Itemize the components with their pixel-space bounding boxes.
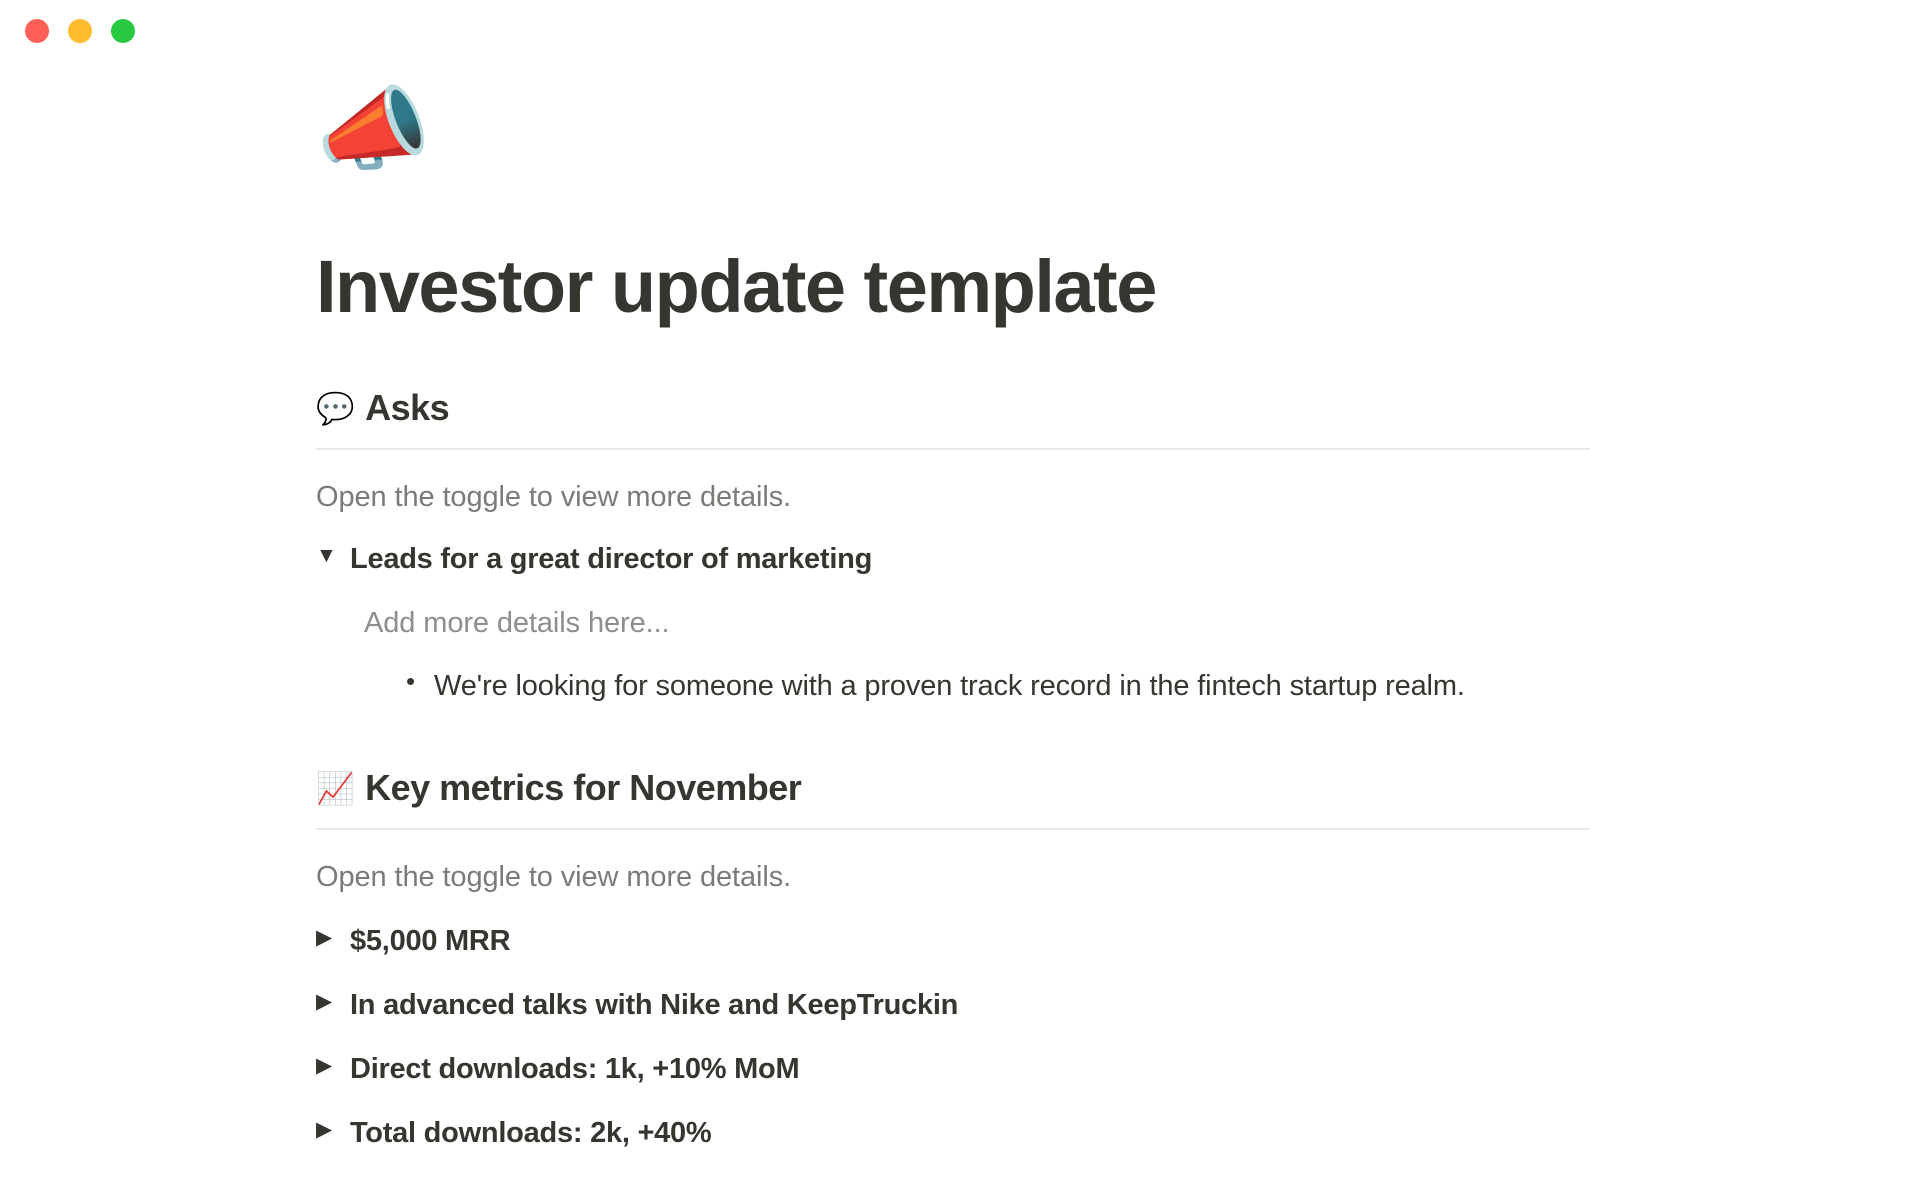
section-heading-text: Key metrics for November [365, 765, 801, 810]
toggle-child-hint[interactable]: Add more details here... [364, 602, 1590, 644]
metrics-toggle-list: ▶ $5,000 MRR ▶ In advanced talks with Ni… [316, 920, 1590, 1154]
section-hint-text[interactable]: Open the toggle to view more details. [316, 856, 1590, 898]
app-window: 📣 Investor update template 💬 Asks Open t… [0, 0, 1920, 1200]
section-heading-asks[interactable]: 💬 Asks [316, 385, 1590, 430]
toggle-block-total-downloads[interactable]: ▶ Total downloads: 2k, +40% [316, 1112, 1590, 1154]
document-page: 📣 Investor update template 💬 Asks Open t… [0, 62, 1920, 1154]
window-titlebar [0, 0, 1920, 62]
bullet-dot-icon: • [406, 665, 434, 698]
toggle-children-leads: Add more details here... • We're looking… [316, 602, 1590, 706]
toggle-block-direct-downloads[interactable]: ▶ Direct downloads: 1k, +10% MoM [316, 1048, 1590, 1090]
bullet-text[interactable]: We're looking for someone with a proven … [434, 665, 1465, 707]
page-title[interactable]: Investor update template [316, 246, 1590, 327]
section-key-metrics: 📈 Key metrics for November Open the togg… [316, 765, 1590, 1154]
toggle-label[interactable]: Direct downloads: 1k, +10% MoM [350, 1048, 799, 1090]
toggle-label[interactable]: $5,000 MRR [350, 920, 510, 962]
section-divider [316, 448, 1590, 450]
toggle-label[interactable]: Total downloads: 2k, +40% [350, 1112, 711, 1154]
section-asks: 💬 Asks Open the toggle to view more deta… [316, 385, 1590, 706]
toggle-block-leads[interactable]: ▼ Leads for a great director of marketin… [316, 538, 1590, 580]
chevron-right-icon[interactable]: ▶ [316, 1048, 350, 1082]
speech-balloon-emoji: 💬 [316, 393, 354, 424]
toggle-label[interactable]: In advanced talks with Nike and KeepTruc… [350, 984, 958, 1026]
toggle-label[interactable]: Leads for a great director of marketing [350, 538, 872, 580]
section-hint-text[interactable]: Open the toggle to view more details. [316, 476, 1590, 518]
section-heading-text: Asks [365, 385, 449, 430]
section-heading-key-metrics[interactable]: 📈 Key metrics for November [316, 765, 1590, 810]
chevron-right-icon[interactable]: ▶ [316, 1112, 350, 1146]
section-divider [316, 828, 1590, 830]
minimize-button[interactable] [68, 19, 92, 43]
chevron-right-icon[interactable]: ▶ [316, 920, 350, 954]
list-item[interactable]: • We're looking for someone with a prove… [364, 665, 1590, 707]
megaphone-emoji[interactable]: 📣 [316, 84, 1590, 202]
traffic-light-controls [25, 19, 135, 43]
toggle-block-mrr[interactable]: ▶ $5,000 MRR [316, 920, 1590, 962]
chevron-right-icon[interactable]: ▶ [316, 984, 350, 1018]
toggle-block-advanced-talks[interactable]: ▶ In advanced talks with Nike and KeepTr… [316, 984, 1590, 1026]
chart-increasing-emoji: 📈 [316, 773, 354, 804]
chevron-down-icon[interactable]: ▼ [316, 538, 350, 572]
close-button[interactable] [25, 19, 49, 43]
maximize-button[interactable] [111, 19, 135, 43]
